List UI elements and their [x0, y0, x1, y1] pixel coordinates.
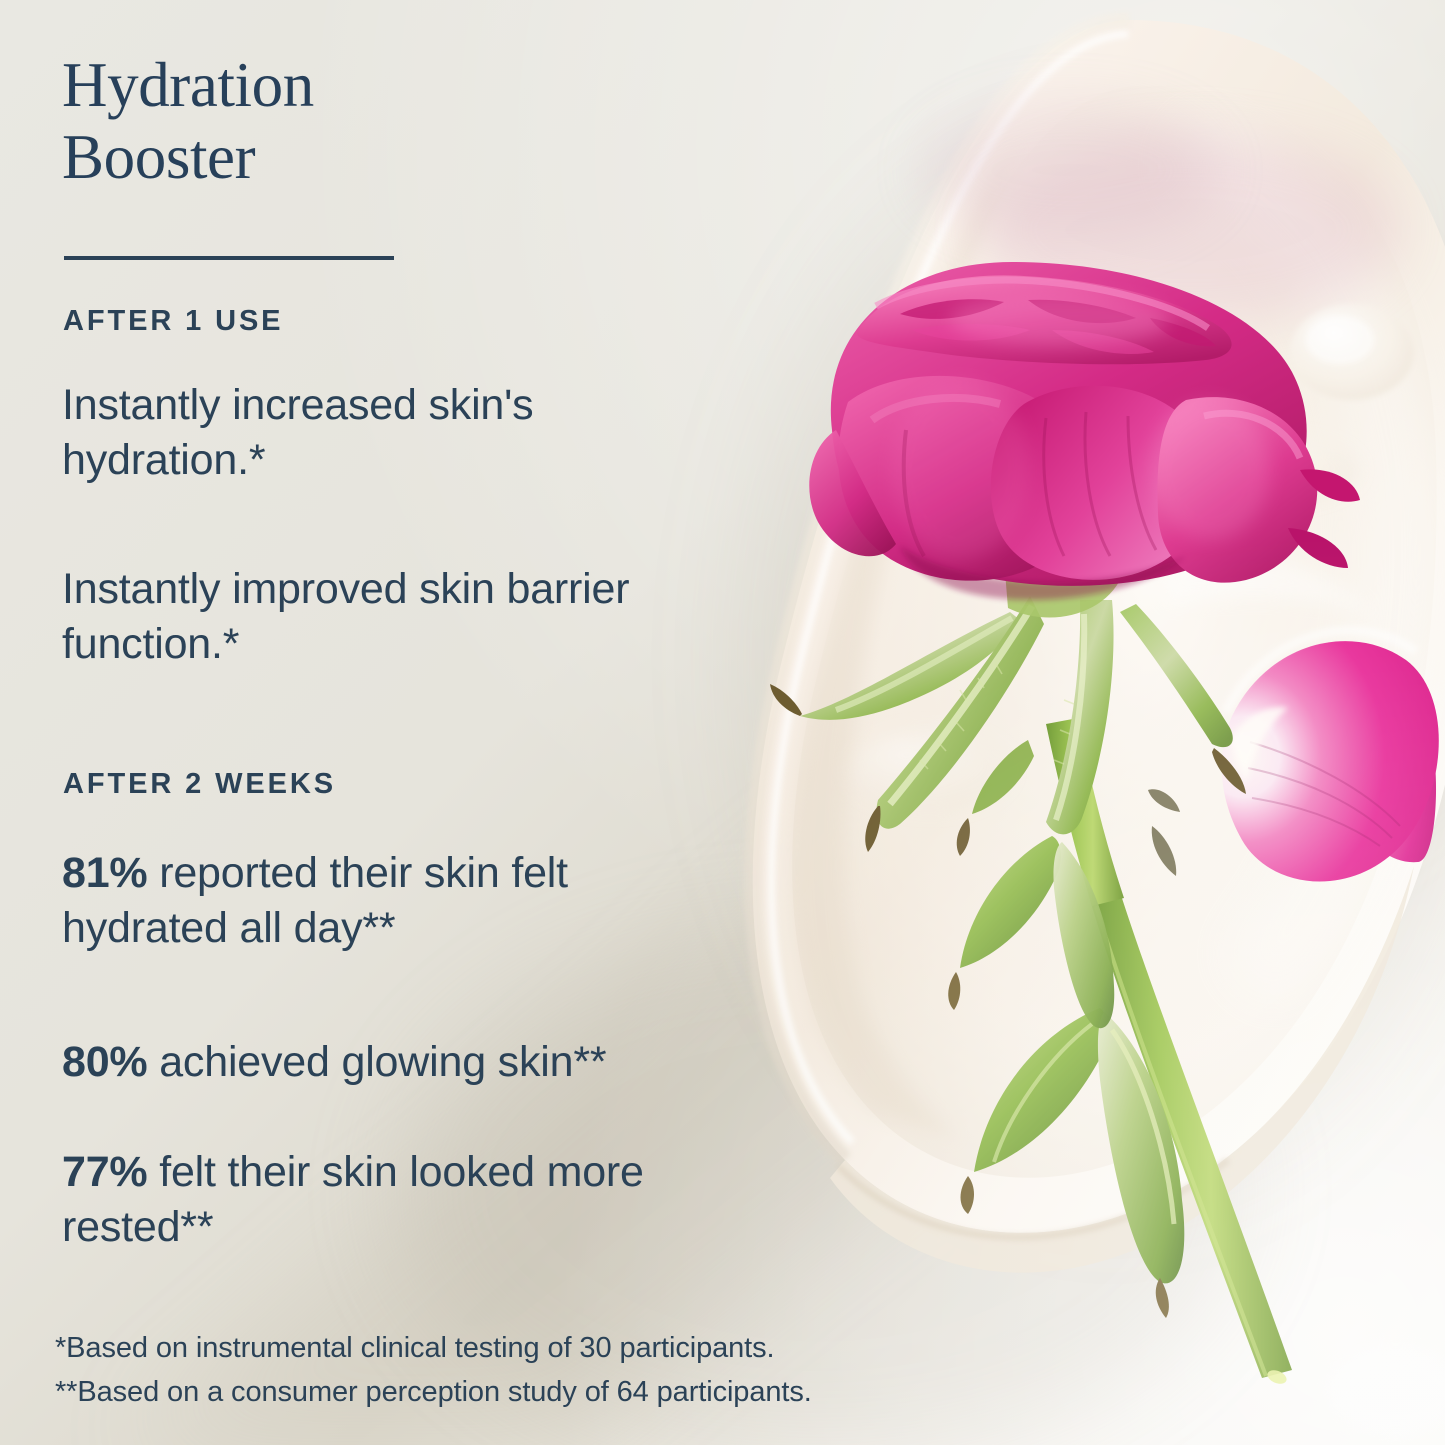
- page-title: Hydration Booster: [62, 50, 482, 194]
- title-line-2: Booster: [62, 122, 255, 192]
- stat-value: 77%: [62, 1148, 147, 1196]
- stat-value: 80%: [62, 1038, 147, 1086]
- footnote-single-asterisk: *Based on instrumental clinical testing …: [55, 1326, 812, 1370]
- claims-text-layer: Hydration Booster AFTER 1 USE Instantly …: [0, 0, 1445, 1445]
- claim-text: felt their skin looked more rested**: [62, 1148, 644, 1251]
- footnote-double-asterisk: **Based on a consumer perception study o…: [55, 1370, 812, 1414]
- claim-skin-barrier: Instantly improved skin barrier function…: [62, 562, 777, 673]
- section-heading-after-2-weeks: AFTER 2 WEEKS: [63, 768, 336, 801]
- claim-text: Instantly increased skin's hydration.*: [62, 381, 533, 484]
- claim-glowing-skin: 80% achieved glowing skin**: [62, 1035, 762, 1090]
- claim-more-rested: 77% felt their skin looked more rested**: [62, 1145, 682, 1256]
- claim-text: Instantly improved skin barrier function…: [62, 565, 629, 668]
- footnotes: *Based on instrumental clinical testing …: [55, 1326, 812, 1414]
- claim-text: achieved glowing skin**: [147, 1038, 606, 1086]
- claim-instant-hydration: Instantly increased skin's hydration.*: [62, 378, 672, 489]
- product-claims-graphic: Hydration Booster AFTER 1 USE Instantly …: [0, 0, 1445, 1445]
- stat-value: 81%: [62, 849, 147, 897]
- title-line-1: Hydration: [62, 50, 314, 120]
- section-heading-after-1-use: AFTER 1 USE: [63, 305, 283, 338]
- title-divider: [64, 256, 394, 260]
- claim-hydrated-all-day: 81% reported their skin felt hydrated al…: [62, 846, 702, 957]
